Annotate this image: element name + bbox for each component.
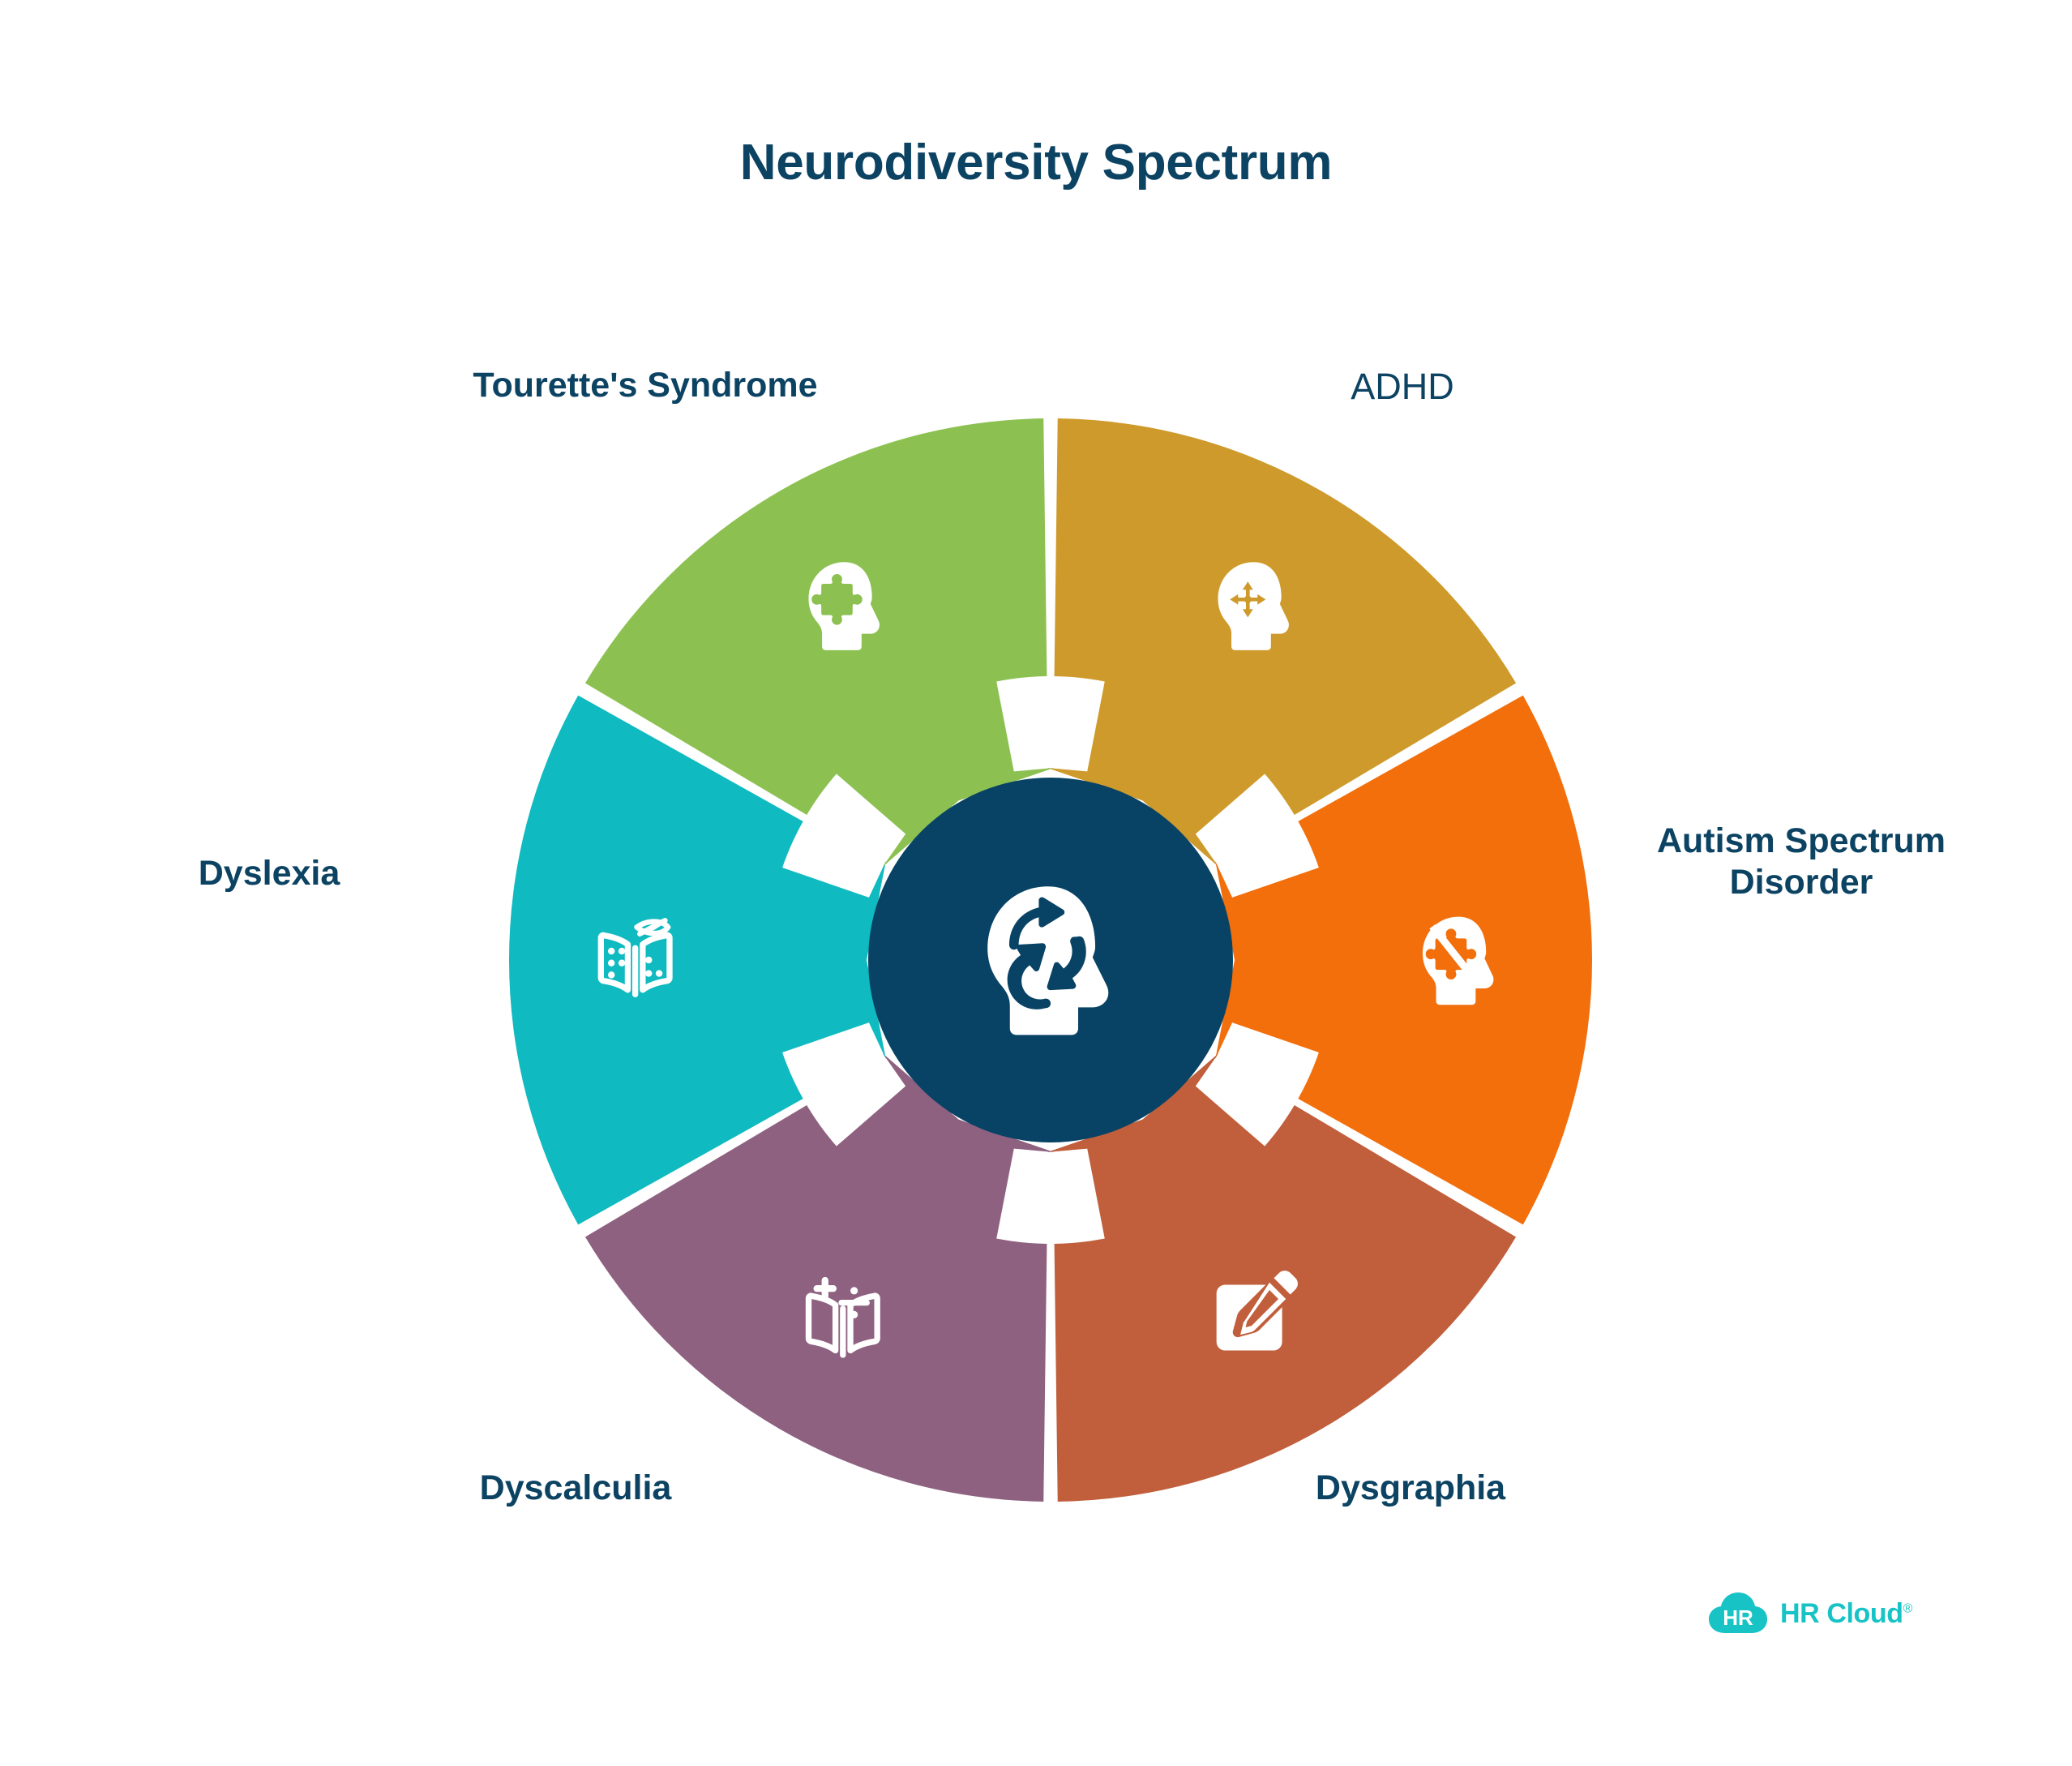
segment-label-dyscalculia: Dyscalculia — [397, 1468, 754, 1509]
segment-label-autism: Autism Spectrum Disorder — [1607, 821, 1996, 902]
segment-label-adhd: ADHD — [1232, 365, 1573, 408]
ring-arrow-autism-spectrum-disorder — [1215, 861, 1336, 1059]
cloud-icon: HR — [1707, 1591, 1769, 1636]
infographic-page: Neurodiversity Spectrum Tourette's Synd — [0, 0, 2072, 1766]
registered-mark: ® — [1903, 1601, 1912, 1615]
cloud-icon-label: HR — [1723, 1605, 1753, 1630]
brand-name-text: HR Cloud — [1780, 1598, 1903, 1629]
ring-arrow-dyslexia — [765, 861, 886, 1059]
segment-label-dyslexia: Dyslexia — [107, 853, 431, 894]
neurodiversity-wheel — [509, 418, 1592, 1502]
page-title: Neurodiversity Spectrum — [0, 134, 2072, 191]
segment-label-tourettes: Tourette's Syndrome — [451, 365, 840, 406]
hr-cloud-logo: HR HR Cloud® — [1707, 1591, 1912, 1636]
wheel-svg — [509, 418, 1592, 1502]
brand-name: HR Cloud® — [1780, 1598, 1912, 1630]
segment-label-dysgraphia: Dysgraphia — [1240, 1468, 1581, 1509]
